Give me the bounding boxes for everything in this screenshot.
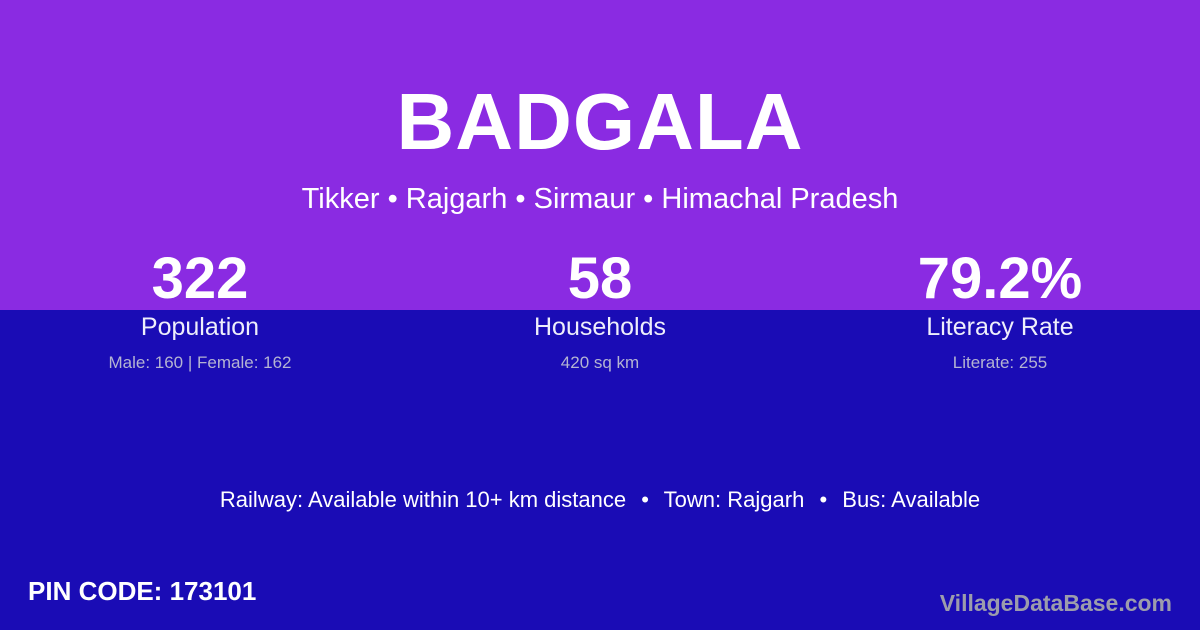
stat-sublabel: Male: 160 | Female: 162	[0, 352, 400, 374]
site-brand: VillageDataBase.com	[940, 589, 1172, 617]
stat-label: Households	[400, 312, 800, 342]
stat-value: 79.2%	[800, 248, 1200, 310]
stat-value: 58	[400, 248, 800, 310]
amenity-bus: Bus: Available	[842, 487, 980, 512]
amenity-railway: Railway: Available within 10+ km distanc…	[220, 487, 626, 512]
pin-code: PIN CODE: 173101	[28, 575, 256, 607]
stat-literacy-rate: 79.2% Literacy Rate Literate: 255	[800, 248, 1200, 374]
page-title: BADGALA	[0, 82, 1200, 162]
breadcrumb: Tikker • Rajgarh • Sirmaur • Himachal Pr…	[0, 182, 1200, 217]
stat-sublabel: 420 sq km	[400, 352, 800, 374]
stat-population: 322 Population Male: 160 | Female: 162	[0, 248, 400, 374]
stat-value: 322	[0, 248, 400, 310]
stat-label: Literacy Rate	[800, 312, 1200, 342]
village-info-card: BADGALA Tikker • Rajgarh • Sirmaur • Him…	[0, 0, 1200, 630]
amenities-line: Railway: Available within 10+ km distanc…	[0, 486, 1200, 514]
stats-row: 322 Population Male: 160 | Female: 162 5…	[0, 248, 1200, 374]
amenity-separator: •	[632, 487, 658, 512]
stat-label: Population	[0, 312, 400, 342]
stat-sublabel: Literate: 255	[800, 352, 1200, 374]
stat-households: 58 Households 420 sq km	[400, 248, 800, 374]
amenity-separator: •	[810, 487, 836, 512]
amenity-town: Town: Rajgarh	[664, 487, 805, 512]
